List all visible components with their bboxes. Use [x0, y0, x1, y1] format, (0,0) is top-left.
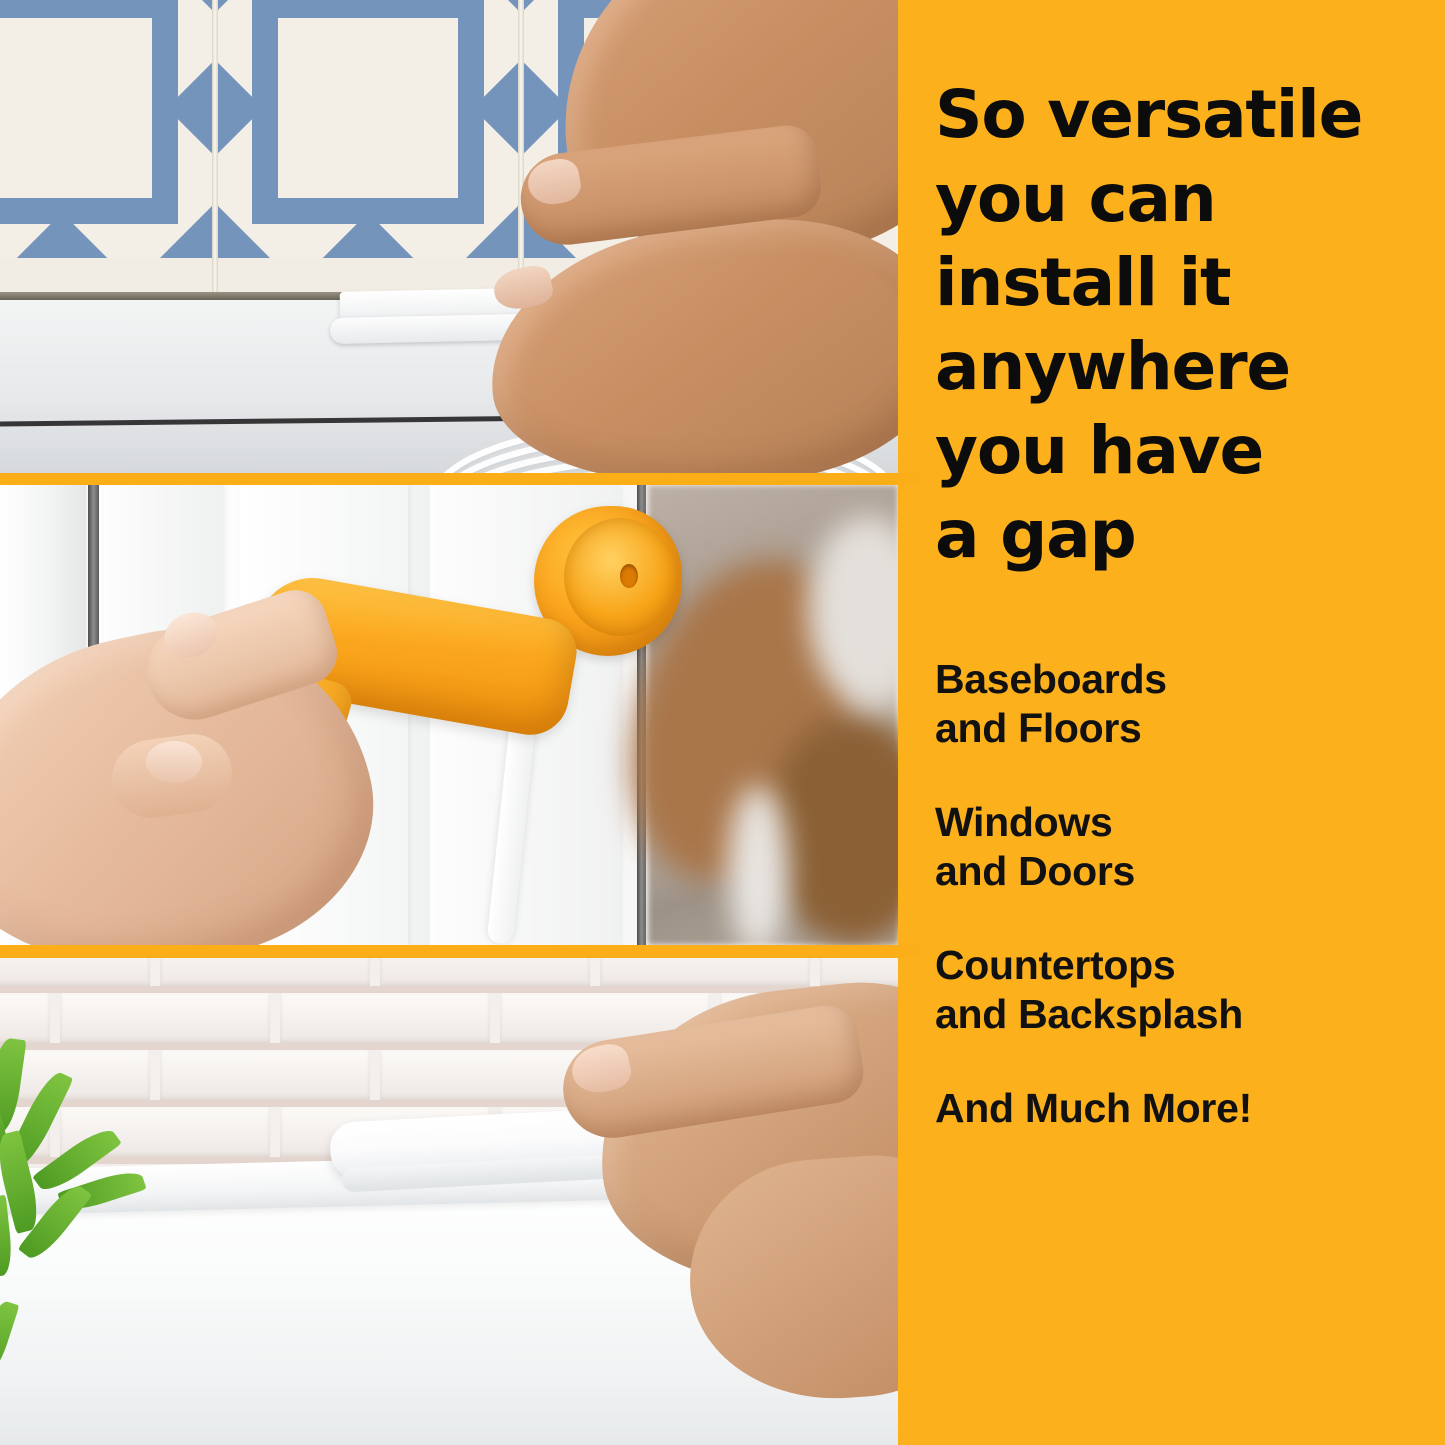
- tile-frame-inner: [0, 36, 134, 180]
- tile-corner: [218, 0, 270, 10]
- benefit-list: Baseboards and Floors Windows and Doors …: [935, 655, 1435, 1133]
- tool-hole: [620, 564, 638, 588]
- photo-countertop-backsplash: [0, 958, 898, 1445]
- blurred-background-shape: [728, 785, 788, 945]
- benefit-line: And Much More!: [935, 1084, 1435, 1133]
- tile-frame-inner: [296, 36, 440, 180]
- window-glass: [648, 485, 898, 945]
- text-column: So versatile you can install it anywhere…: [898, 0, 1445, 1445]
- tile-corner: [218, 206, 270, 258]
- tile-corner: [160, 0, 212, 10]
- benefit-item-baseboards: Baseboards and Floors: [935, 655, 1435, 753]
- photo-window-trim: [0, 485, 898, 945]
- fingernail: [146, 741, 202, 783]
- tile-grout-line: [518, 0, 524, 300]
- tile-corner: [160, 206, 212, 258]
- tile-corner: [466, 206, 518, 258]
- headline-line: anywhere: [935, 325, 1425, 409]
- benefit-item-countertops: Countertops and Backsplash: [935, 941, 1435, 1039]
- panel-divider: [0, 473, 920, 485]
- headline: So versatile you can install it anywhere…: [935, 73, 1425, 577]
- tile-corner: [466, 0, 518, 10]
- headline-line: you have: [935, 409, 1425, 493]
- headline-line: install it: [935, 241, 1425, 325]
- product-feature-image: So versatile you can install it anywhere…: [0, 0, 1445, 1445]
- tile-unit: [218, 0, 518, 258]
- benefit-line: Countertops: [935, 941, 1435, 990]
- benefit-line: and Doors: [935, 847, 1435, 896]
- headline-line: a gap: [935, 493, 1425, 577]
- benefit-item-more: And Much More!: [935, 1084, 1435, 1133]
- photo-column: [0, 0, 898, 1445]
- benefit-line: and Backsplash: [935, 990, 1435, 1039]
- headline-line: you can: [935, 157, 1425, 241]
- tile-unit: [0, 0, 212, 258]
- benefit-line: Baseboards: [935, 655, 1435, 704]
- panel-divider: [0, 945, 920, 958]
- headline-line: So versatile: [935, 73, 1425, 157]
- benefit-line: Windows: [935, 798, 1435, 847]
- benefit-item-windows: Windows and Doors: [935, 798, 1435, 896]
- plant-leaves-icon: [0, 1028, 230, 1358]
- tile-corner: [524, 0, 576, 10]
- benefit-line: and Floors: [935, 704, 1435, 753]
- photo-backsplash-tile: [0, 0, 898, 473]
- tile-grout-line: [212, 0, 218, 300]
